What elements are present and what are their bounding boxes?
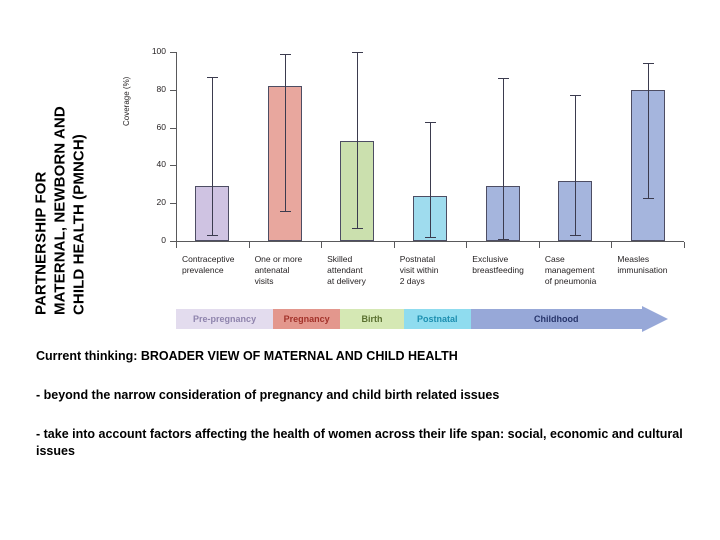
body-copy: Current thinking: BROADER VIEW OF MATERN…: [36, 348, 700, 460]
category-label-line: Postnatal: [400, 254, 467, 265]
error-bar-lower-cap-4: [425, 237, 436, 238]
y-tick-100: 100: [170, 52, 177, 53]
category-label-line: One or more: [255, 254, 322, 265]
x-axis-line: [176, 241, 684, 242]
copy-heading: Current thinking: BROADER VIEW OF MATERN…: [36, 348, 700, 365]
category-label-line: antenatal: [255, 265, 322, 276]
y-tick-20: 20: [170, 203, 177, 204]
category-label-2: One or moreantenatalvisits: [255, 254, 322, 287]
y-axis-title: Coverage (%): [122, 77, 131, 126]
error-bar-upper-cap-1: [207, 77, 218, 78]
y-tick-mark: [170, 128, 177, 129]
timeline-segment-pregnancy: Pregnancy: [273, 309, 340, 329]
category-label-line: 2 days: [400, 276, 467, 287]
category-label-line: visits: [255, 276, 322, 287]
category-label-line: Contraceptive: [182, 254, 249, 265]
x-tick-mark: [394, 242, 395, 248]
timeline-segment-pre-pregnancy: Pre-pregnancy: [176, 309, 273, 329]
error-bar-3: [357, 52, 358, 228]
error-bar-7: [648, 63, 649, 197]
coverage-bar-chart: Coverage (%) 020406080100 Contraceptivep…: [128, 44, 688, 344]
timeline-segment-label: Pregnancy: [284, 314, 330, 324]
side-title-line-3: CHILD HEALTH (PMNCH): [70, 15, 89, 315]
y-tick-label: 80: [157, 84, 166, 94]
error-bar-lower-cap-1: [207, 235, 218, 236]
organization-title: PARTNERSHIP FOR MATERNAL, NEWBORN AND CH…: [32, 15, 89, 315]
x-tick-mark: [466, 242, 467, 248]
timeline-segment-postnatal: Postnatal: [404, 309, 471, 329]
copy-bullet-2: - take into account factors affecting th…: [36, 426, 700, 460]
x-tick-mark: [176, 242, 177, 248]
error-bar-upper-cap-3: [352, 52, 363, 53]
y-tick-80: 80: [170, 90, 177, 91]
category-label-line: Measles: [617, 254, 684, 265]
error-bar-upper-cap-7: [643, 63, 654, 64]
plot-frame: Coverage (%) 020406080100: [128, 44, 688, 249]
error-bar-1: [212, 77, 213, 236]
category-label-line: prevalence: [182, 265, 249, 276]
category-label-7: Measlesimmunisation: [617, 254, 684, 276]
y-tick-mark: [170, 52, 177, 53]
y-tick-label: 40: [157, 159, 166, 169]
category-label-line: immunisation: [617, 265, 684, 276]
error-bar-upper-cap-5: [498, 78, 509, 79]
y-tick-mark: [170, 203, 177, 204]
side-title-container: PARTNERSHIP FOR MATERNAL, NEWBORN AND CH…: [0, 0, 120, 330]
life-stage-timeline: Pre-pregnancyPregnancyBirthPostnatalChil…: [154, 306, 684, 332]
category-label-line: Exclusive: [472, 254, 539, 265]
error-bar-lower-cap-3: [352, 228, 363, 229]
timeline-segment-label: Birth: [361, 314, 382, 324]
error-bar-5: [503, 78, 504, 239]
y-tick-mark: [170, 90, 177, 91]
error-bar-6: [575, 95, 576, 235]
x-tick-mark: [684, 242, 685, 248]
category-label-line: Skilled: [327, 254, 394, 265]
error-bar-upper-cap-6: [570, 95, 581, 96]
category-label-line: of pneumonia: [545, 276, 612, 287]
x-tick-mark: [321, 242, 322, 248]
category-label-line: breastfeeding: [472, 265, 539, 276]
category-label-1: Contraceptiveprevalence: [182, 254, 249, 276]
timeline-segment-childhood: Childhood: [471, 309, 642, 329]
y-tick-label: 20: [157, 197, 166, 207]
y-tick-40: 40: [170, 165, 177, 166]
category-label-line: at delivery: [327, 276, 394, 287]
error-bar-lower-cap-5: [498, 239, 509, 240]
error-bar-lower-cap-2: [280, 211, 291, 212]
category-label-4: Postnatalvisit within2 days: [400, 254, 467, 287]
y-axis-line: [176, 52, 177, 242]
category-label-line: Case: [545, 254, 612, 265]
timeline-segment-birth: Birth: [340, 309, 404, 329]
timeline-arrowhead-icon: [642, 306, 668, 332]
category-label-5: Exclusivebreastfeeding: [472, 254, 539, 276]
category-label-6: Casemanagementof pneumonia: [545, 254, 612, 287]
side-title-line-2: MATERNAL, NEWBORN AND: [51, 15, 70, 315]
category-label-line: management: [545, 265, 612, 276]
timeline-segment-label: Postnatal: [417, 314, 458, 324]
y-tick-mark: [170, 165, 177, 166]
y-tick-label: 60: [157, 122, 166, 132]
error-bar-upper-cap-4: [425, 122, 436, 123]
copy-bullet-1: - beyond the narrow consideration of pre…: [36, 387, 700, 404]
x-tick-mark: [249, 242, 250, 248]
category-labels: ContraceptiveprevalenceOne or moreantena…: [128, 254, 688, 306]
side-title-line-1: PARTNERSHIP FOR: [32, 15, 51, 315]
category-label-3: Skilledattendantat delivery: [327, 254, 394, 287]
y-tick-label: 0: [161, 235, 166, 245]
x-tick-mark: [539, 242, 540, 248]
category-label-line: attendant: [327, 265, 394, 276]
timeline-segment-label: Pre-pregnancy: [193, 314, 256, 324]
error-bar-lower-cap-7: [643, 198, 654, 199]
error-bar-4: [430, 122, 431, 237]
x-tick-mark: [611, 242, 612, 248]
error-bar-2: [285, 54, 286, 211]
y-tick-60: 60: [170, 128, 177, 129]
category-label-line: visit within: [400, 265, 467, 276]
error-bar-lower-cap-6: [570, 235, 581, 236]
timeline-segment-label: Childhood: [534, 314, 579, 324]
error-bar-upper-cap-2: [280, 54, 291, 55]
y-tick-label: 100: [152, 46, 166, 56]
